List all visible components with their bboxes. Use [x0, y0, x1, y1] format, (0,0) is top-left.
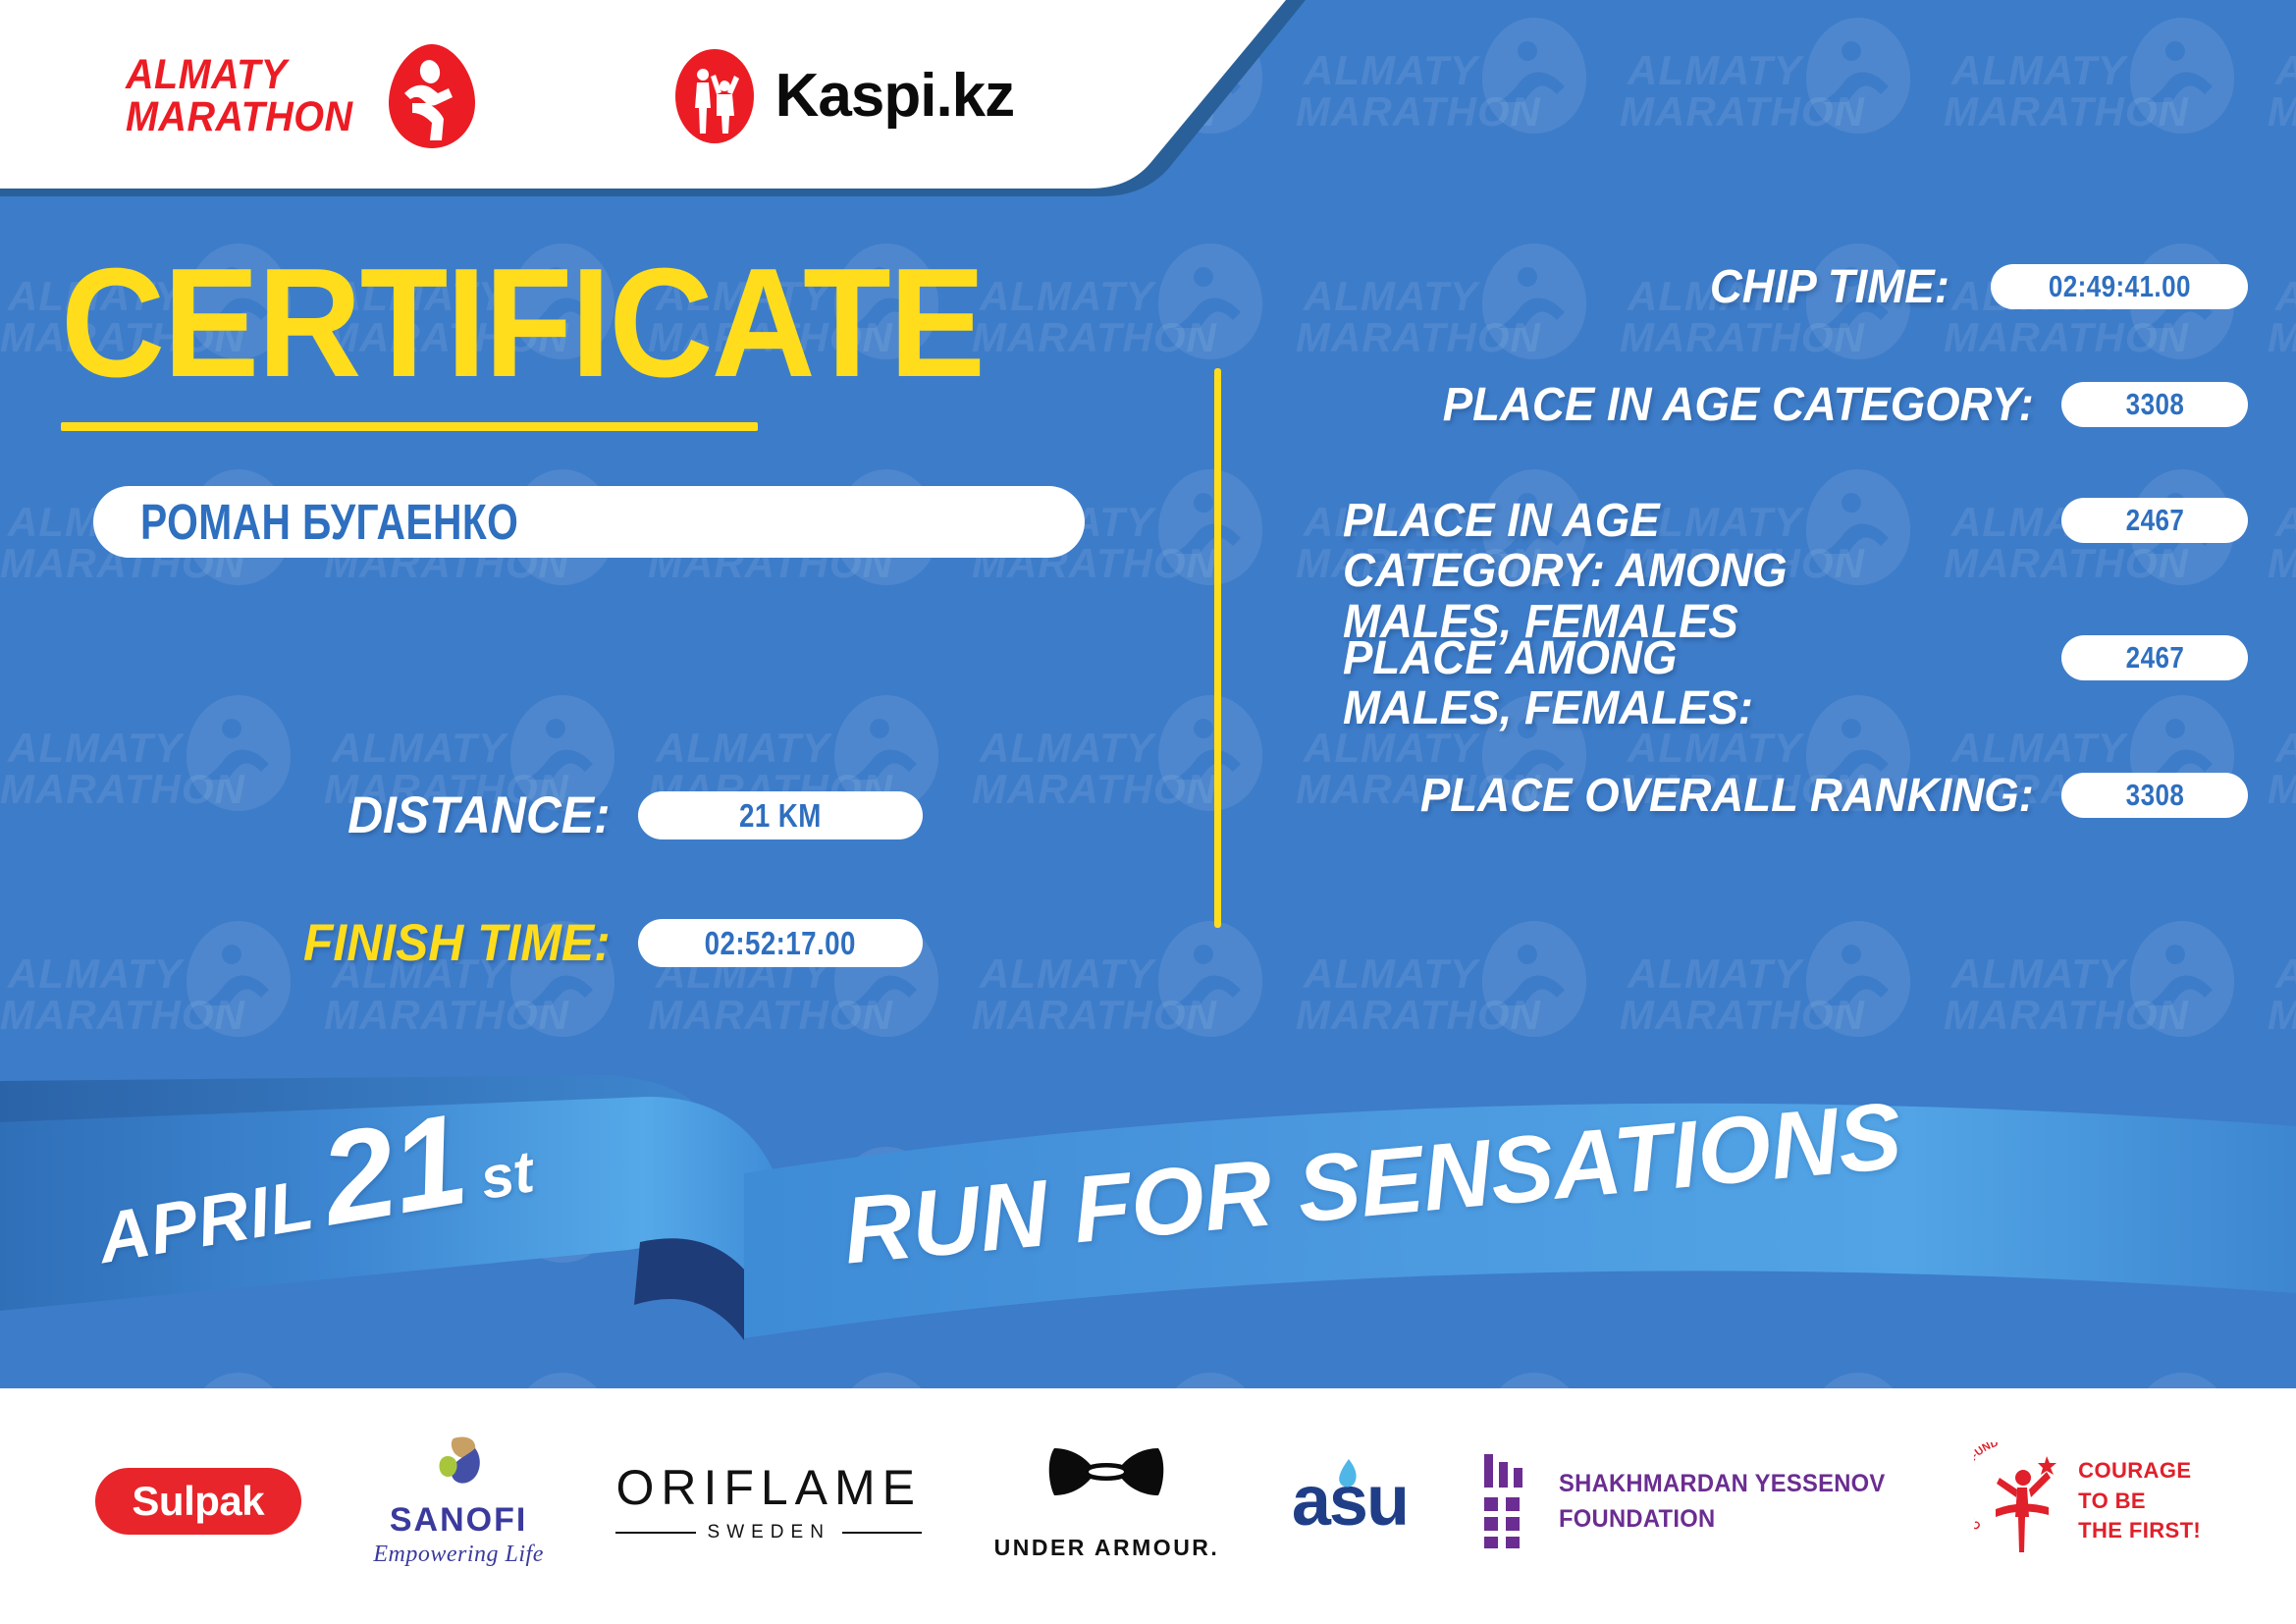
logo-line-almaty: ALMATY: [126, 54, 352, 95]
oriflame-label: ORIFLAME: [615, 1459, 922, 1516]
stat-row-place-among-males-females: PLACE AMONG MALES, FEMALES: 2467: [1266, 633, 2248, 734]
sponsor-oriflame: ORIFLAME SWEDEN: [615, 1459, 922, 1543]
chip-time-value: 02:49:41.00: [2048, 269, 2190, 304]
header-logos: ALMATY MARATHON Kaspi.kz: [0, 0, 1178, 191]
sulpak-label: Sulpak: [132, 1478, 264, 1525]
place-age-category-value-pill: 3308: [2061, 382, 2248, 427]
almaty-marathon-wordmark: ALMATY MARATHON: [126, 54, 352, 136]
courage-line2: TO BE: [2078, 1487, 2201, 1517]
ribbon-month: APRIL: [92, 1164, 320, 1279]
place-age-category-label: PLACE IN AGE CATEGORY:: [1443, 380, 2034, 430]
sponsor-asu: asu: [1292, 1461, 1408, 1542]
ribbon-day: 21: [311, 1084, 476, 1254]
kaspi-wordmark: Kaspi.kz: [775, 61, 1015, 131]
right-column: CHIP TIME: 02:49:41.00 PLACE IN AGE CATE…: [1266, 191, 2296, 1134]
place-age-category-among-value-pill: 2467: [2061, 498, 2248, 543]
sponsor-sulpak: Sulpak: [95, 1468, 301, 1535]
yessenov-line1: SHAKHMARDAN YESSENOV: [1559, 1466, 1886, 1501]
yessenov-label: SHAKHMARDAN YESSENOV FOUNDATION: [1559, 1466, 1886, 1538]
sponsor-sanofi: SANOFI Empowering Life: [373, 1435, 544, 1568]
stat-row-place-age-category: PLACE IN AGE CATEGORY: 3308: [1266, 380, 2248, 430]
sanofi-label: SANOFI: [390, 1501, 527, 1540]
distance-value: 21 KM: [739, 797, 822, 835]
kaspi-logo: Kaspi.kz: [673, 47, 1015, 145]
title-underline: [61, 422, 758, 431]
asu-droplet-icon: [1335, 1457, 1361, 1490]
courage-ring-text: CORPORATE FUND: [1974, 1442, 2000, 1532]
place-among-label: PLACE AMONG MALES, FEMALES:: [1343, 633, 1790, 734]
place-age-category-value: 3308: [2125, 387, 2184, 422]
stat-row-place-age-category-among: PLACE IN AGE CATEGORY: AMONG MALES, FEMA…: [1266, 496, 2248, 647]
distance-value-pill: 21 KM: [638, 791, 923, 839]
courage-line1: COURAGE: [2078, 1456, 2201, 1487]
page-title: CERTIFICATE: [61, 245, 984, 401]
courage-label: COURAGE TO BE THE FIRST!: [2078, 1456, 2201, 1546]
certificate-body: CERTIFICATE РОМАН БУГАЕНКО DISTANCE: 21 …: [0, 191, 2296, 1134]
sponsor-bar: Sulpak SANOFI Empowering Life ORIFLAME S…: [0, 1388, 2296, 1624]
distance-label: DISTANCE:: [347, 785, 611, 845]
under-armour-label: UNDER ARMOUR.: [994, 1535, 1220, 1561]
certificate-canvas: ALMATY MARATHON ALMATY MARATHON: [0, 0, 2296, 1624]
oriflame-sub: SWEDEN: [615, 1522, 922, 1543]
place-overall-label: PLACE OVERALL RANKING:: [1420, 771, 2034, 821]
place-overall-value-pill: 3308: [2061, 773, 2248, 818]
participant-name-field: РОМАН БУГАЕНКО: [93, 486, 1085, 558]
logo-line-marathon: MARATHON: [126, 96, 352, 137]
oriflame-tagline: SWEDEN: [708, 1522, 830, 1543]
place-among-value-pill: 2467: [2061, 635, 2248, 680]
sanofi-tagline: Empowering Life: [373, 1542, 544, 1568]
finish-time-value: 02:52:17.00: [705, 925, 856, 962]
vertical-divider: [1214, 368, 1221, 928]
courage-figure-icon: CORPORATE FUND: [1974, 1442, 2068, 1560]
ribbon-day-suffix: st: [475, 1137, 538, 1213]
courage-line3: THE FIRST!: [2078, 1516, 2201, 1546]
place-among-value: 2467: [2125, 640, 2184, 676]
place-age-category-among-value: 2467: [2125, 503, 2184, 538]
left-column: CERTIFICATE РОМАН БУГАЕНКО DISTANCE: 21 …: [0, 191, 1193, 1134]
stat-row-chip-time: CHIP TIME: 02:49:41.00: [1266, 262, 2248, 312]
kaspi-people-icon: [673, 47, 756, 145]
sponsor-under-armour: UNDER ARMOUR.: [994, 1442, 1220, 1561]
stat-row-place-overall: PLACE OVERALL RANKING: 3308: [1266, 771, 2248, 821]
chip-time-label: CHIP TIME:: [1710, 262, 1949, 312]
under-armour-icon: [1046, 1442, 1166, 1529]
almaty-marathon-logo: ALMATY MARATHON: [126, 42, 477, 150]
runner-drop-icon: [387, 42, 477, 150]
oriflame-rule-right: [842, 1532, 922, 1534]
svg-text:CORPORATE FUND: CORPORATE FUND: [1974, 1442, 2000, 1532]
stat-row-finish-time: FINISH TIME: 02:52:17.00: [0, 913, 923, 973]
chip-time-value-pill: 02:49:41.00: [1991, 264, 2248, 309]
finish-time-value-pill: 02:52:17.00: [638, 919, 923, 967]
sanofi-mark-icon: [424, 1435, 493, 1499]
yessenov-line2: FOUNDATION: [1559, 1501, 1886, 1537]
participant-name-value: РОМАН БУГАЕНКО: [140, 493, 518, 551]
place-overall-value: 3308: [2125, 778, 2184, 813]
sponsor-corporate-fund: CORPORATE FUND COURAGE TO BE THE FIRST!: [1974, 1442, 2201, 1560]
stat-row-distance: DISTANCE: 21 KM: [0, 785, 923, 845]
yessenov-bars-icon: [1480, 1452, 1541, 1550]
sponsor-yessenov: SHAKHMARDAN YESSENOV FOUNDATION: [1480, 1452, 1902, 1550]
finish-time-label: FINISH TIME:: [303, 913, 611, 973]
oriflame-rule-left: [615, 1532, 695, 1534]
place-age-category-among-label: PLACE IN AGE CATEGORY: AMONG MALES, FEMA…: [1343, 496, 1865, 647]
